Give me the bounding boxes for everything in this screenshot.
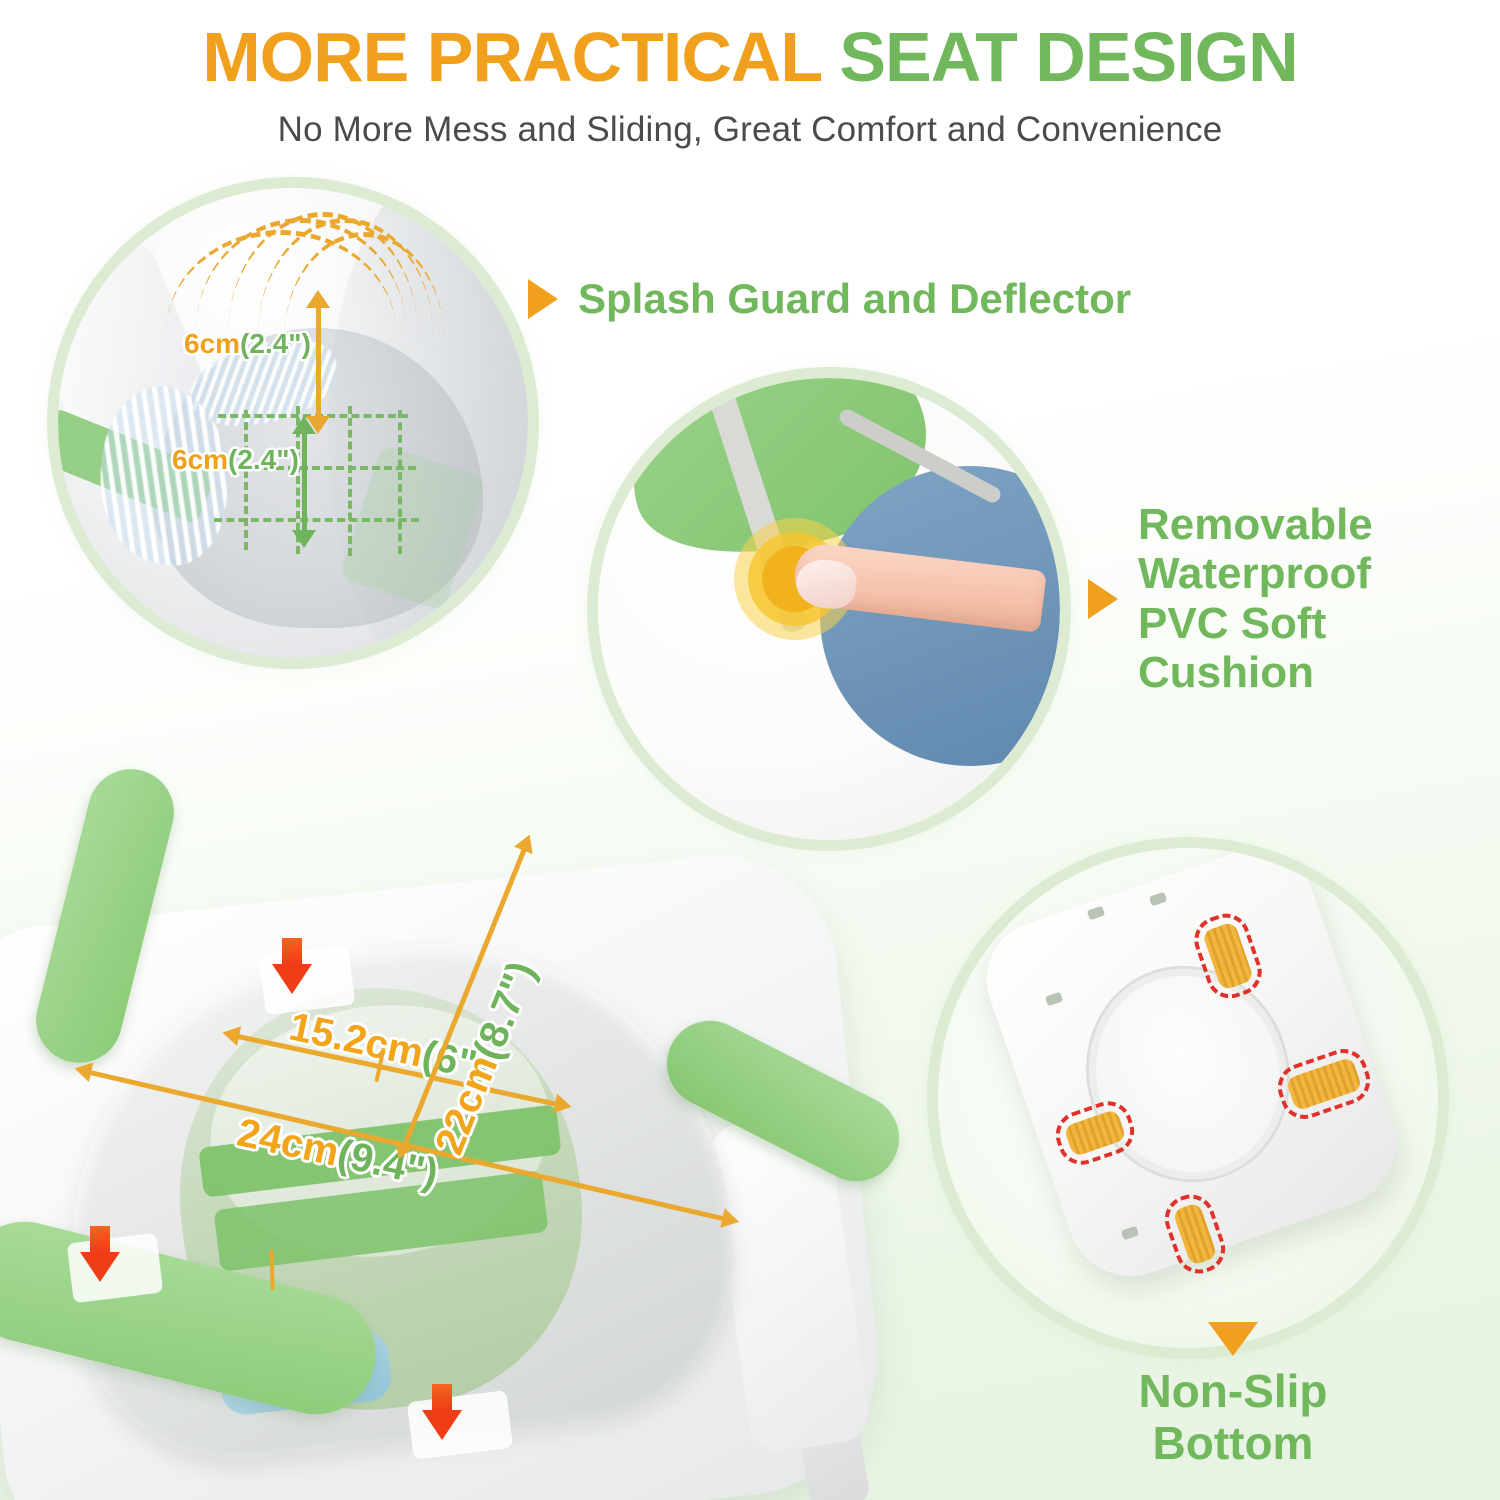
non-slip-marker-2	[80, 1226, 120, 1282]
triangle-down-icon	[1208, 1322, 1258, 1356]
label-pvc-cushion-text: Removable Waterproof PVC Soft Cushion	[1138, 500, 1373, 697]
measure-arrow-up-orange	[306, 290, 330, 308]
non-slip-marker-3	[422, 1384, 462, 1440]
header: MORE PRACTICAL SEAT DESIGN No More Mess …	[0, 22, 1500, 150]
measure-line-orange	[316, 308, 321, 418]
label-non-slip-bottom: Non-Slip Bottom	[1038, 1322, 1428, 1469]
label-line-1: Non-Slip	[1138, 1366, 1327, 1418]
measure-line-green	[302, 434, 307, 534]
label-non-slip-bottom-text: Non-Slip Bottom	[1138, 1366, 1327, 1469]
triangle-right-icon	[528, 279, 558, 319]
label-pvc-cushion: Removable Waterproof PVC Soft Cushion	[1088, 500, 1373, 697]
grid-v-3	[348, 406, 352, 556]
label-line-2: Bottom	[1138, 1418, 1327, 1470]
grid-v-4	[398, 410, 402, 554]
label-splash-guard: Splash Guard and Deflector	[528, 275, 1131, 322]
measure-arrow-up-green	[292, 416, 316, 434]
non-slip-marker-1	[272, 938, 312, 994]
label-line-1: Removable	[1138, 500, 1373, 549]
title-part-green: SEAT DESIGN	[839, 18, 1297, 96]
page-subtitle: No More Mess and Sliding, Great Comfort …	[0, 110, 1500, 150]
grid-v-1	[244, 410, 248, 550]
hero-product-photo: 15.2cm(6") 24cm(9.4") 22cm(8.7")	[0, 738, 930, 1500]
label-line-3: PVC Soft	[1138, 599, 1373, 648]
page-title: MORE PRACTICAL SEAT DESIGN	[0, 22, 1500, 92]
measure-label-orange: 6cm(2.4")	[184, 328, 311, 360]
label-splash-guard-text: Splash Guard and Deflector	[578, 275, 1131, 322]
measure-label-green: 6cm(2.4")	[172, 444, 299, 476]
label-line-2: Waterproof	[1138, 549, 1373, 598]
title-part-orange: MORE PRACTICAL	[202, 18, 839, 96]
measure-arrow-down-green	[292, 530, 316, 548]
infographic-canvas: MORE PRACTICAL SEAT DESIGN No More Mess …	[0, 0, 1500, 1500]
label-line-4: Cushion	[1138, 648, 1373, 697]
callout-circle-non-slip-bottom	[938, 848, 1438, 1348]
triangle-right-icon	[1088, 579, 1118, 619]
callout-circle-splash-guard: 6cm(2.4") 6cm(2.4")	[58, 188, 528, 658]
